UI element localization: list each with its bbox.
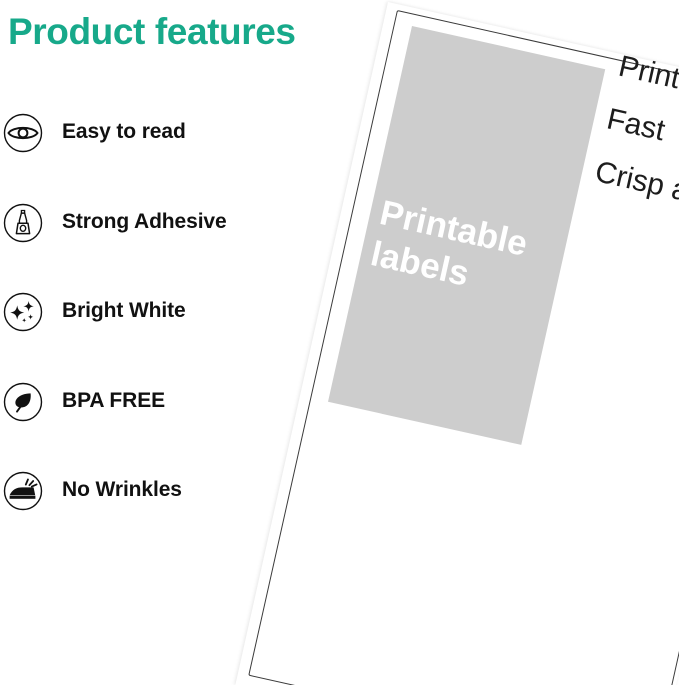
feature-item-strong-adhesive: Strong Adhesive [0, 203, 310, 293]
product-features-list: Easy to read Strong Adhesive [0, 113, 310, 561]
feature-item-easy-to-read: Easy to read [0, 113, 310, 203]
feature-label-bpa-free: BPA FREE [62, 389, 165, 413]
printable-label-block-text: Printable labels [357, 190, 569, 315]
page-title: Product features [8, 11, 296, 53]
feature-label-bright-white: Bright White [62, 299, 186, 323]
product-feature-graphic: Printable labels Printabl Fast Crisp and… [0, 0, 679, 685]
iron-icon [3, 471, 43, 511]
glue-bottle-icon [3, 203, 43, 243]
feature-item-bpa-free: BPA FREE [0, 382, 310, 472]
feature-label-strong-adhesive: Strong Adhesive [62, 210, 227, 234]
feature-item-bright-white: Bright White [0, 292, 310, 382]
sparkles-icon [3, 292, 43, 332]
feature-label-easy-to-read: Easy to read [62, 120, 186, 144]
feature-label-no-wrinkles: No Wrinkles [62, 478, 182, 502]
eye-icon [3, 113, 43, 153]
feature-item-no-wrinkles: No Wrinkles [0, 471, 310, 561]
leaf-icon [3, 382, 43, 422]
